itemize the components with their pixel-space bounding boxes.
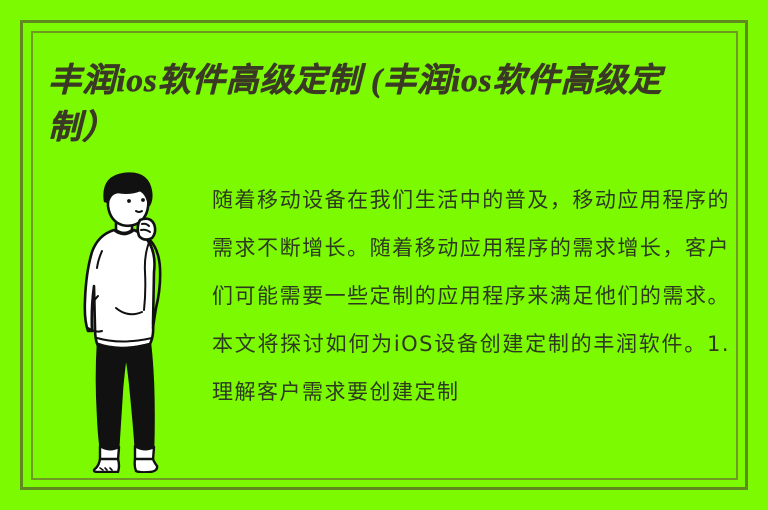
page-title: 丰润ios软件高级定制 (丰润ios软件高级定制） (48, 58, 696, 152)
person-illustration (58, 168, 203, 473)
poster-canvas: 丰润ios软件高级定制 (丰润ios软件高级定制） (0, 0, 768, 510)
body-paragraph: 随着移动设备在我们生活中的普及，移动应用程序的需求不断增长。随着移动应用程序的需… (212, 176, 730, 416)
standing-person-icon (58, 168, 203, 473)
